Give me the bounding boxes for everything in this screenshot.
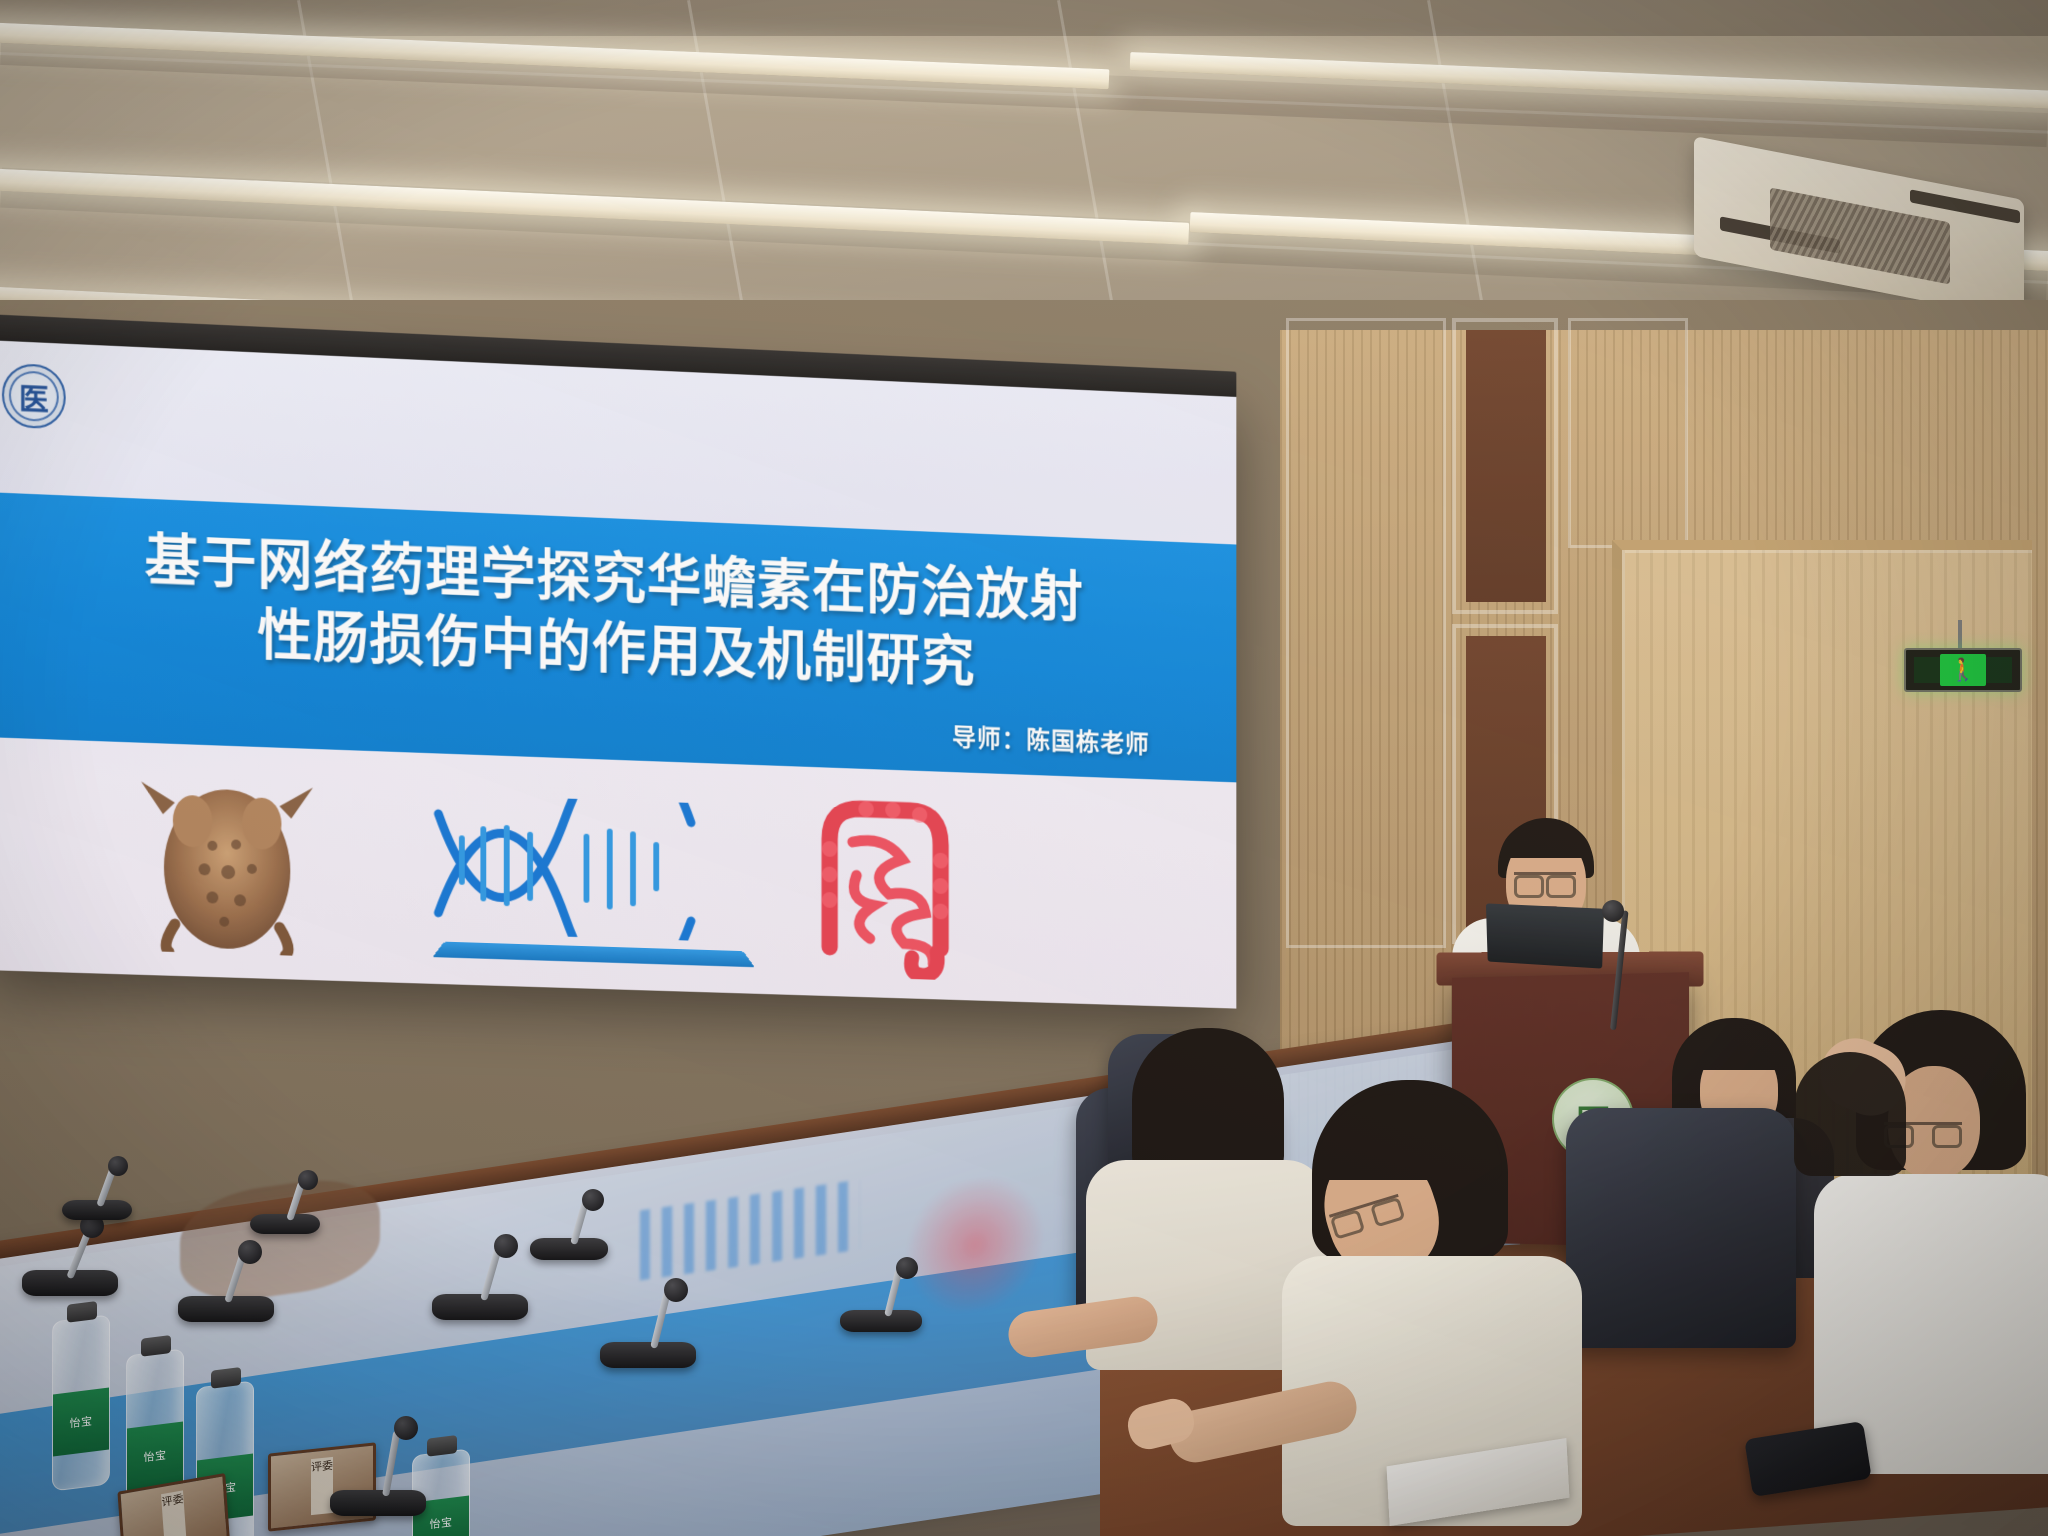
toad-photo-icon (133, 771, 321, 956)
university-emblem-icon: 医 (2, 363, 66, 430)
exit-sign-pole (1958, 620, 1962, 650)
audience-1-hair (1132, 1028, 1284, 1178)
water-bottle[interactable]: 怡宝 (52, 1314, 110, 1491)
laptop[interactable] (1486, 903, 1604, 968)
office-chair[interactable] (1566, 1108, 1796, 1348)
dna-helix-icon (419, 793, 730, 942)
emblem-glyph: 医 (19, 374, 49, 419)
running-man-icon: 🚶 (1949, 659, 1976, 681)
intestine-reflection (900, 1169, 1050, 1320)
slide-figure-row (0, 740, 1236, 1009)
name-card-text: 评委 (161, 1490, 187, 1536)
bottle-label: 怡宝 (127, 1422, 183, 1491)
intestine-model-icon (797, 779, 969, 981)
presentation-room-photo: 🚶 医 基于网络药理学探究华蟾素在防治放射 性肠损伤中的作用及机制研究 导师：陈… (0, 0, 2048, 1536)
presentation-slide: 医 基于网络药理学探究华蟾素在防治放射 性肠损伤中的作用及机制研究 导师：陈国栋… (0, 340, 1236, 1009)
bottle-label: 怡宝 (53, 1388, 109, 1457)
projection-screen: 医 基于网络药理学探究华蟾素在防治放射 性肠损伤中的作用及机制研究 导师：陈国栋… (0, 340, 1236, 1009)
figure-pedestal (432, 942, 755, 968)
presenter-glasses (1514, 872, 1576, 890)
slide-advisor-label: 导师：陈国栋老师 (952, 718, 1149, 760)
exit-sign: 🚶 (1904, 648, 2022, 692)
audience-5-hair (1794, 1052, 1906, 1176)
name-card-holder: 评委 (268, 1442, 376, 1531)
